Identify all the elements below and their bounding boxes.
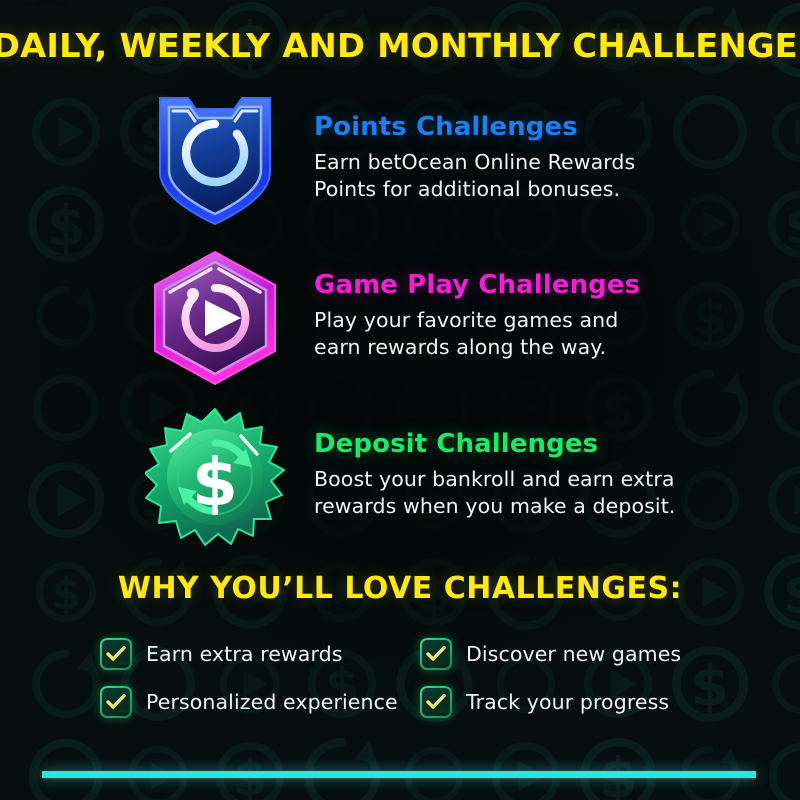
hexagon-play-icon [140, 243, 290, 393]
desc-line-2: earn rewards along the way. [314, 335, 606, 359]
desc-line-1: Boost your bankroll and earn extra [314, 467, 675, 491]
svg-text:$: $ [192, 444, 238, 521]
list-item: Personalized experience [100, 678, 420, 726]
list-item: Track your progress [420, 678, 710, 726]
list-item: Discover new games [420, 630, 710, 678]
checkmark-icon [100, 638, 132, 670]
checklist-row: Personalized experience Track your progr… [100, 678, 710, 726]
checklist-label: Discover new games [452, 642, 681, 666]
desc-line-1: Earn betOcean Online Rewards [314, 150, 635, 174]
checklist-row: Earn extra rewards Discover new games [100, 630, 710, 678]
checkmark-icon [420, 638, 452, 670]
challenge-row-game-play: Game Play Challenges Play your favorite … [140, 243, 760, 393]
bottom-accent-bar [42, 771, 756, 778]
challenges-infographic: undefined$$$$$$$$$$$$$$$$$$$$$$$$$ DAILY… [0, 0, 800, 800]
desc-line-2: Points for additional bonuses. [314, 177, 620, 201]
challenge-description: Boost your bankroll and earn extra rewar… [314, 466, 760, 520]
benefits-checklist: Earn extra rewards Discover new games [100, 630, 710, 726]
checklist-label: Personalized experience [132, 690, 398, 714]
page-title: DAILY, WEEKLY AND MONTHLY CHALLENGES [0, 26, 800, 65]
checklist-label: Track your progress [452, 690, 669, 714]
challenge-title: Deposit Challenges [314, 430, 760, 459]
challenge-title: Points Challenges [314, 113, 760, 142]
challenge-description: Play your favorite games and earn reward… [314, 307, 760, 361]
checkmark-icon [420, 686, 452, 718]
shield-refresh-icon [140, 85, 290, 235]
challenge-description: Earn betOcean Online Rewards Points for … [314, 149, 760, 203]
checklist-label: Earn extra rewards [132, 642, 343, 666]
why-love-challenges-title: WHY YOU’LL LOVE CHALLENGES: [0, 571, 800, 606]
desc-line-2: rewards when you make a deposit. [314, 494, 675, 518]
challenge-row-points: Points Challenges Earn betOcean Online R… [140, 85, 760, 235]
checkmark-icon [100, 686, 132, 718]
list-item: Earn extra rewards [100, 630, 420, 678]
starburst-dollar-icon: $ [140, 402, 290, 552]
challenge-title: Game Play Challenges [314, 271, 760, 300]
challenge-row-deposit: $ Deposit Challenges Boost your bankroll… [140, 402, 760, 552]
desc-line-1: Play your favorite games and [314, 308, 618, 332]
